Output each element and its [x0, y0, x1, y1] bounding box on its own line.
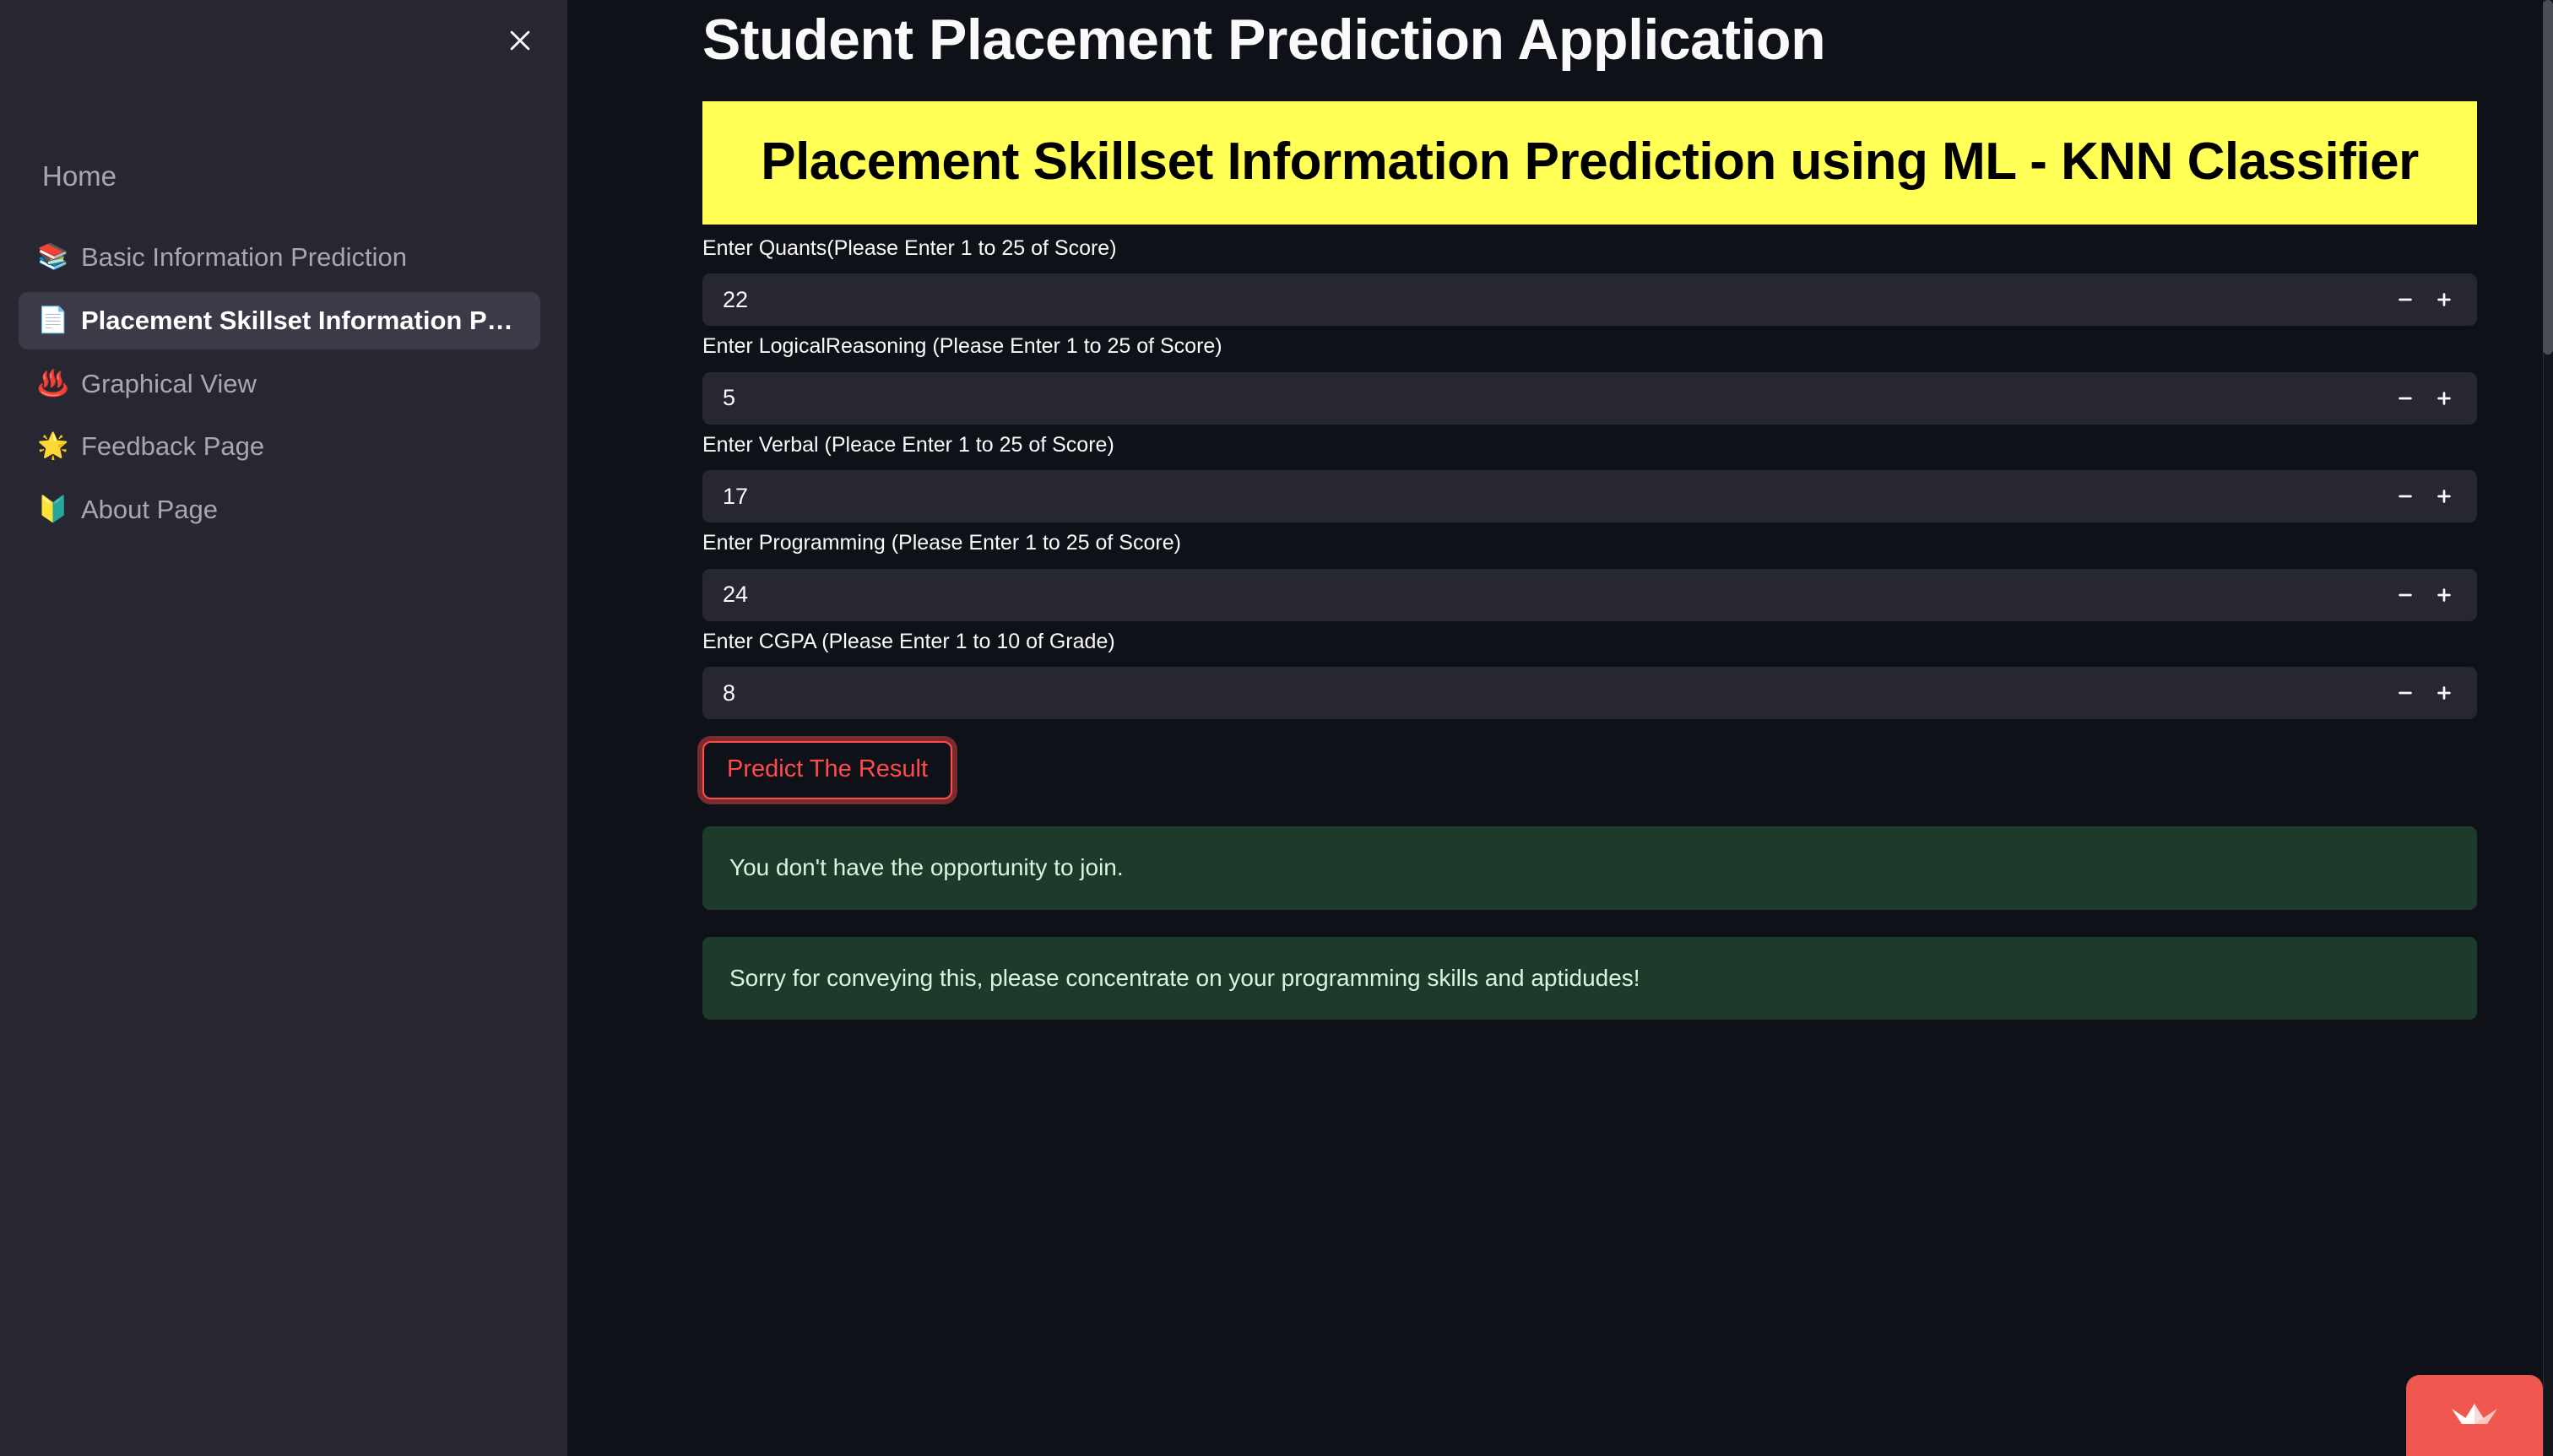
programming-value: 24: [723, 582, 2386, 608]
main-inner: Student Placement Prediction Application…: [567, 0, 2553, 1020]
sidebar-item-label: Home: [42, 160, 117, 192]
stepper: [2386, 674, 2464, 712]
banner: Placement Skillset Information Predictio…: [702, 101, 2477, 225]
hot-springs-icon: ♨️: [37, 371, 68, 397]
sidebar-item-basic-information-prediction[interactable]: 📚 Basic Information Prediction: [19, 229, 540, 286]
predict-the-result-button[interactable]: Predict The Result: [702, 741, 952, 799]
sidebar-item-label: Graphical View: [81, 366, 257, 402]
sidebar-item-label: Placement Skillset Information Pre…: [81, 303, 522, 338]
field-label: Enter CGPA (Please Enter 1 to 10 of Grad…: [702, 626, 2477, 658]
cgpa-number-input[interactable]: 8: [702, 667, 2477, 719]
predict-button-wrap: Predict The Result: [702, 741, 2477, 799]
sidebar-item-feedback-page[interactable]: 🌟 Feedback Page: [19, 418, 540, 475]
decrement-button[interactable]: [2386, 477, 2425, 516]
prediction-result-alert: You don't have the opportunity to join.: [702, 826, 2477, 910]
field-label: Enter LogicalReasoning (Please Enter 1 t…: [702, 331, 2477, 363]
books-icon: 📚: [37, 245, 68, 270]
sidebar-item-label: About Page: [81, 492, 218, 528]
verbal-number-input[interactable]: 17: [702, 470, 2477, 522]
sidebar-item-label: Feedback Page: [81, 429, 264, 464]
main-content: Student Placement Prediction Application…: [567, 0, 2553, 1456]
increment-button[interactable]: [2425, 674, 2464, 712]
field-cgpa: Enter CGPA (Please Enter 1 to 10 of Grad…: [702, 626, 2477, 720]
verbal-value: 17: [723, 484, 2386, 510]
page-facing-up-icon: 📄: [37, 308, 68, 333]
cgpa-value: 8: [723, 680, 2386, 706]
streamlit-deploy-badge[interactable]: [2406, 1375, 2543, 1456]
page-title: Student Placement Prediction Application: [702, 7, 2477, 73]
app-root: Home 📚 Basic Information Prediction 📄 Pl…: [0, 0, 2553, 1456]
programming-number-input[interactable]: 24: [702, 569, 2477, 621]
sidebar-nav: Home 📚 Basic Information Prediction 📄 Pl…: [0, 0, 567, 539]
sidebar: Home 📚 Basic Information Prediction 📄 Pl…: [0, 0, 567, 1456]
page-scrollbar-track[interactable]: [2543, 0, 2553, 1456]
field-programming: Enter Programming (Please Enter 1 to 25 …: [702, 528, 2477, 621]
field-verbal: Enter Verbal (Pleace Enter 1 to 25 of Sc…: [702, 430, 2477, 523]
prediction-advice-alert: Sorry for conveying this, please concent…: [702, 937, 2477, 1020]
stepper: [2386, 576, 2464, 614]
field-logical-reasoning: Enter LogicalReasoning (Please Enter 1 t…: [702, 331, 2477, 425]
decrement-button[interactable]: [2386, 379, 2425, 418]
sidebar-item-placement-skillset-information-prediction[interactable]: 📄 Placement Skillset Information Pre…: [19, 292, 540, 349]
glowing-star-icon: 🌟: [37, 434, 68, 459]
banner-title: Placement Skillset Information Predictio…: [728, 130, 2452, 194]
close-icon: [506, 26, 534, 55]
logicalreasoning-number-input[interactable]: 5: [702, 372, 2477, 425]
beginner-badge-icon: 🔰: [37, 497, 68, 522]
increment-button[interactable]: [2425, 280, 2464, 319]
decrement-button[interactable]: [2386, 674, 2425, 712]
stepper: [2386, 477, 2464, 516]
stepper: [2386, 280, 2464, 319]
sidebar-item-about-page[interactable]: 🔰 About Page: [19, 481, 540, 539]
decrement-button[interactable]: [2386, 280, 2425, 319]
field-label: Enter Verbal (Pleace Enter 1 to 25 of Sc…: [702, 430, 2477, 462]
quants-number-input[interactable]: 22: [702, 273, 2477, 326]
sidebar-item-label: Basic Information Prediction: [81, 240, 407, 275]
field-quants: Enter Quants(Please Enter 1 to 25 of Sco…: [702, 233, 2477, 327]
decrement-button[interactable]: [2386, 576, 2425, 614]
field-label: Enter Programming (Please Enter 1 to 25 …: [702, 528, 2477, 560]
field-label: Enter Quants(Please Enter 1 to 25 of Sco…: [702, 233, 2477, 265]
stepper: [2386, 379, 2464, 418]
increment-button[interactable]: [2425, 477, 2464, 516]
sidebar-item-home[interactable]: Home: [19, 152, 540, 202]
streamlit-crown-icon: [2448, 1397, 2501, 1434]
quants-value: 22: [723, 287, 2386, 313]
increment-button[interactable]: [2425, 379, 2464, 418]
sidebar-item-graphical-view[interactable]: ♨️ Graphical View: [19, 355, 540, 413]
logicalreasoning-value: 5: [723, 385, 2386, 411]
page-scrollbar-thumb[interactable]: [2543, 0, 2553, 355]
increment-button[interactable]: [2425, 576, 2464, 614]
sidebar-close-button[interactable]: [498, 19, 542, 62]
